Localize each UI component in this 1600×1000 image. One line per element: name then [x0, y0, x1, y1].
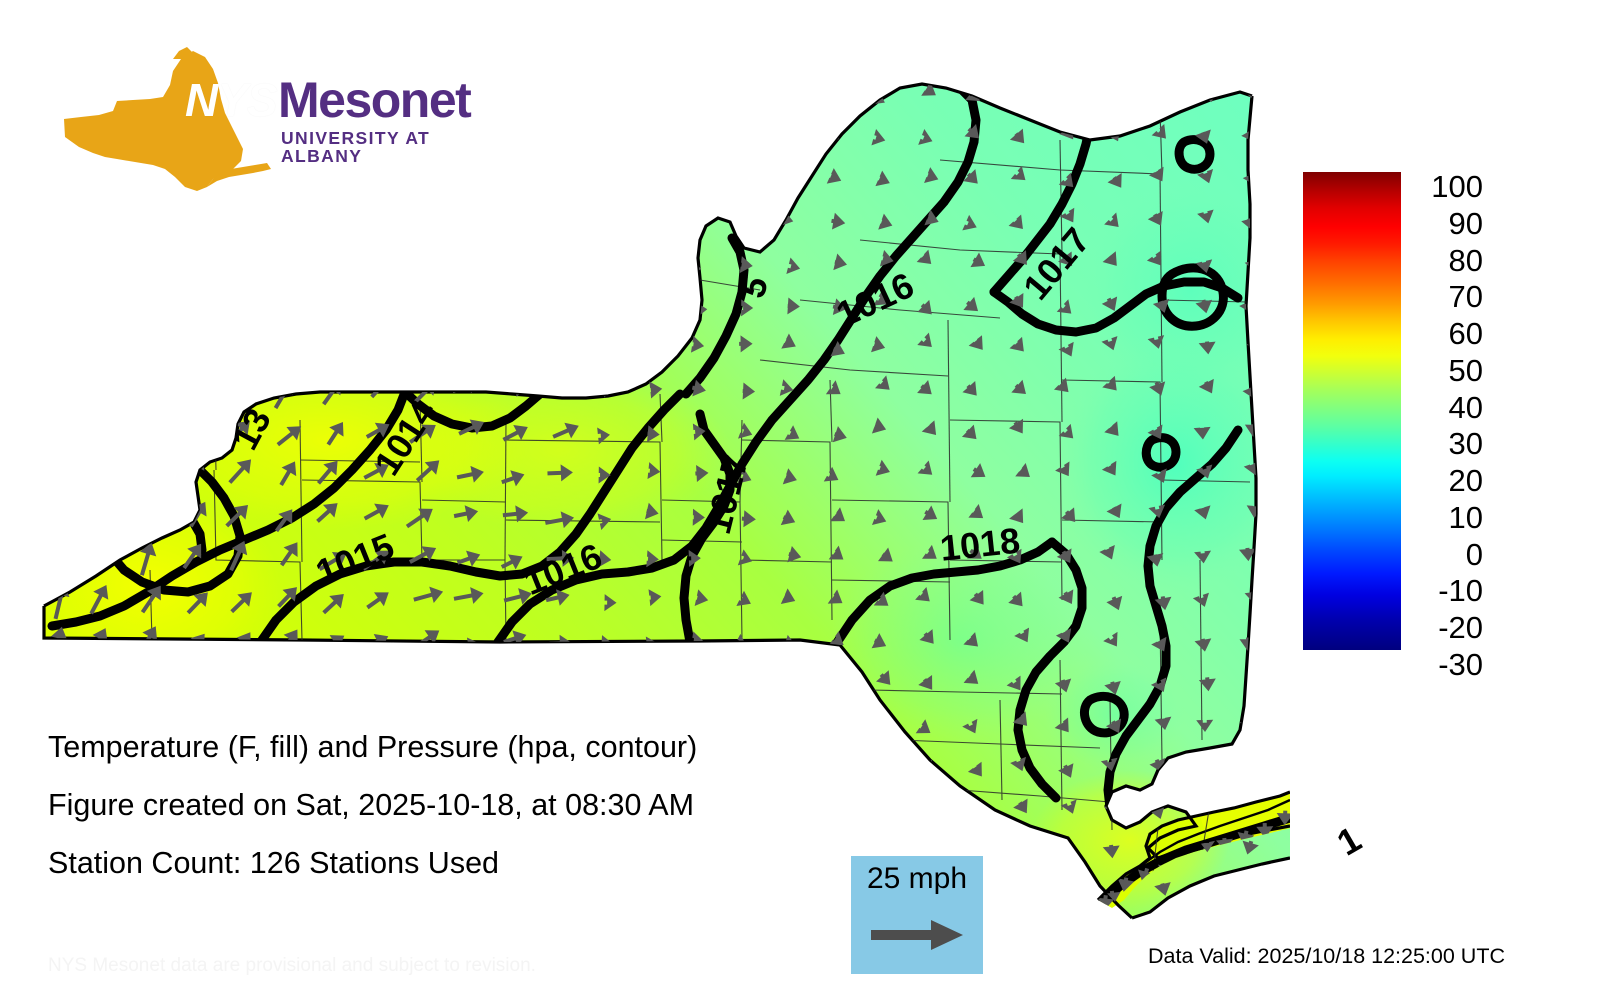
wind-arrow-icon	[601, 292, 618, 312]
colorbar-tick-neg30: -30	[1411, 648, 1483, 682]
wind-arrow-icon	[1015, 89, 1036, 111]
colorbar-tick-10: 10	[1411, 501, 1483, 535]
wind-arrow-icon	[542, 336, 574, 361]
colorbar-tick-neg20: -20	[1411, 611, 1483, 645]
wind-arrow-icon	[1152, 85, 1173, 103]
wind-arrow-icon	[96, 286, 118, 319]
wind-arrow-icon	[500, 675, 525, 695]
wind-arrow-icon	[1200, 763, 1218, 778]
wind-arrow-icon	[178, 667, 208, 701]
wind-arrow-icon	[642, 338, 656, 356]
wind-arrow-icon	[131, 494, 161, 533]
colorbar-tick-70: 70	[1411, 280, 1483, 314]
wind-arrow-icon	[505, 248, 535, 274]
wind-arrow-icon	[275, 326, 305, 361]
wind-arrow-icon	[182, 335, 213, 369]
logo-nys-text: NYS	[185, 77, 277, 123]
colorbar-tick-60: 60	[1411, 317, 1483, 351]
wind-scale-label: 25 mph	[851, 862, 983, 896]
wind-arrow-icon	[551, 673, 575, 690]
wind-arrow-icon	[133, 418, 160, 453]
colorbar-tick-labels: 1009080706050403020100-10-20-30	[1411, 154, 1501, 668]
wind-arrow-icon	[88, 453, 109, 488]
wind-arrow-icon	[452, 669, 482, 696]
wind-arrow-icon	[502, 924, 532, 944]
wind-arrow-icon	[1106, 931, 1126, 948]
wind-arrow-icon	[738, 928, 756, 948]
wind-arrow-icon	[1199, 928, 1218, 942]
wind-arrow-icon	[597, 209, 614, 229]
weather-map-page: 13101410151016510161017101710181 NYS Mes…	[0, 0, 1600, 1000]
wind-arrow-icon	[321, 284, 351, 319]
wind-arrow-icon	[497, 167, 530, 193]
wind-arrow-icon	[646, 671, 663, 691]
wind-arrow-icon	[549, 126, 579, 150]
caption-block: Temperature (F, fill) and Pressure (hpa,…	[48, 718, 868, 892]
wind-arrow-icon	[44, 454, 63, 490]
wind-arrow-icon	[45, 284, 64, 319]
wind-arrow-icon	[648, 932, 661, 950]
wind-arrow-icon	[226, 921, 260, 959]
wind-arrow-icon	[1246, 928, 1263, 942]
wind-arrow-icon	[502, 125, 532, 154]
wind-arrow-icon	[826, 677, 845, 698]
caption-created: Figure created on Sat, 2025-10-18, at 08…	[48, 776, 868, 834]
wind-arrow-icon	[786, 132, 800, 150]
wind-arrow-icon	[313, 922, 349, 952]
wind-scale-legend: 25 mph	[851, 856, 983, 974]
wind-arrow-icon	[736, 174, 752, 194]
wind-arrow-icon	[1008, 885, 1029, 903]
wind-arrow-icon	[131, 205, 159, 244]
wind-arrow-icon	[92, 376, 109, 410]
wind-arrow-icon	[42, 915, 72, 953]
wind-arrow-icon	[452, 295, 487, 325]
wind-arrow-icon	[1242, 887, 1260, 900]
wind-arrow-icon	[42, 500, 71, 540]
wind-arrow-icon	[1099, 88, 1120, 106]
wind-arrow-icon	[740, 677, 757, 697]
wind-arrow-icon	[178, 373, 209, 410]
wind-arrow-icon	[1195, 891, 1214, 906]
wind-arrow-icon	[877, 796, 897, 817]
logo-subtitle: UNIVERSITY AT ALBANY	[281, 129, 455, 165]
wind-arrow-icon	[269, 670, 300, 703]
wind-arrow-icon	[43, 413, 69, 453]
wind-arrow-icon	[1059, 88, 1079, 109]
colorbar-tick-20: 20	[1411, 464, 1483, 498]
wind-arrow-icon	[87, 328, 114, 363]
wind-arrow-icon	[179, 242, 208, 279]
wind-arrow-icon	[735, 209, 752, 228]
wind-arrow-icon	[89, 495, 109, 528]
wind-arrow-icon	[872, 711, 892, 732]
wind-arrow-icon	[89, 419, 110, 453]
wind-arrow-icon	[270, 293, 298, 327]
wind-arrow-icon	[226, 286, 259, 322]
wind-arrow-icon	[225, 666, 257, 702]
colorbar-tick-100: 100	[1411, 170, 1483, 204]
data-valid-timestamp: Data Valid: 2025/10/18 12:25:00 UTC	[1148, 944, 1505, 969]
wind-arrow-icon	[92, 663, 115, 700]
caption-fine-print: NYS Mesonet data are provisional and sub…	[48, 955, 536, 977]
wind-arrow-icon	[1010, 924, 1029, 940]
contour-label-1-9: 1	[1330, 818, 1368, 864]
wind-arrow-icon	[691, 921, 710, 942]
wind-arrow-icon	[603, 342, 618, 361]
wind-arrow-icon	[543, 209, 574, 235]
wind-arrow-icon	[131, 922, 167, 958]
wind-arrow-icon	[650, 211, 664, 229]
colorbar-tick-30: 30	[1411, 427, 1483, 461]
wind-arrow-icon	[46, 241, 71, 280]
wind-arrow-icon	[600, 672, 614, 690]
wind-arrow-icon	[410, 668, 444, 699]
wind-arrow-icon	[1057, 881, 1078, 900]
wind-arrow-icon	[404, 285, 437, 319]
wind-arrow-icon	[360, 292, 390, 324]
wind-arrow-icon	[964, 803, 985, 822]
caption-station-count: Station Count: 126 Stations Used	[48, 834, 868, 892]
wind-arrow-icon	[690, 676, 709, 697]
wind-arrow-icon	[46, 328, 64, 362]
wind-arrow-icon	[363, 925, 396, 953]
wind-arrow-icon	[133, 459, 161, 496]
wind-arrow-icon	[362, 203, 396, 235]
wind-arrow-icon	[601, 83, 621, 105]
wind-arrow-icon	[449, 250, 483, 276]
wind-arrow-icon	[450, 335, 482, 362]
wind-arrow-icon	[643, 252, 659, 271]
wind-arrow-icon	[184, 417, 212, 454]
contour-label-1018-8: 1018	[938, 520, 1022, 570]
wind-arrow-icon	[266, 921, 298, 951]
wind-arrow-icon	[499, 292, 528, 317]
wind-arrow-icon	[181, 286, 209, 322]
wind-arrow-icon	[877, 756, 898, 778]
colorbar-tick-80: 80	[1411, 244, 1483, 278]
nys-mesonet-logo: NYS Mesonet UNIVERSITY AT ALBANY	[55, 45, 405, 195]
wind-arrow-icon	[1242, 761, 1260, 775]
wind-arrow-icon	[271, 248, 302, 280]
wind-arrow-icon	[231, 327, 258, 362]
wind-arrow-icon	[650, 85, 663, 103]
wind-arrow-icon	[452, 923, 481, 947]
wind-arrow-icon	[543, 83, 574, 108]
wind-arrow-icon	[602, 253, 618, 273]
wind-arrow-icon	[226, 204, 257, 239]
wind-arrow-icon	[502, 203, 535, 233]
wind-arrow-icon	[922, 799, 943, 819]
wind-arrow-icon	[359, 330, 390, 361]
wind-arrow-icon	[1054, 922, 1076, 942]
wind-arrow-icon	[266, 206, 298, 240]
colorbar-tick-0: 0	[1411, 538, 1483, 572]
wind-arrow-icon	[779, 82, 795, 102]
wind-arrow-icon	[547, 289, 580, 315]
wind-arrow-icon	[183, 919, 214, 952]
wind-arrow-icon	[695, 126, 708, 144]
wind-arrow-icon	[129, 368, 160, 404]
wind-arrow-icon	[226, 368, 256, 403]
wind-arrow-icon	[49, 670, 68, 702]
wind-arrow-icon	[649, 296, 664, 314]
wind-arrow-icon	[134, 288, 156, 322]
wind-arrow-icon	[451, 205, 483, 236]
wind-arrow-icon	[97, 203, 115, 239]
wind-arrow-icon	[500, 340, 526, 361]
wind-arrow-icon	[48, 371, 68, 407]
wind-arrow-icon	[739, 90, 753, 108]
wind-arrow-icon	[501, 83, 532, 113]
wind-arrow-icon	[138, 250, 165, 286]
wind-arrow-icon	[695, 167, 709, 185]
wind-arrow-icon	[320, 249, 350, 283]
wind-arrow-icon	[827, 89, 842, 108]
caption-title: Temperature (F, fill) and Pressure (hpa,…	[48, 718, 868, 776]
wind-arrow-icon	[404, 167, 439, 197]
wind-arrow-icon	[228, 242, 261, 279]
wind-arrow-icon	[411, 920, 445, 944]
wind-arrow-icon	[546, 250, 575, 276]
wind-arrow-icon	[778, 673, 797, 694]
wind-arrow-icon	[454, 163, 483, 191]
colorbar-tick-neg10: -10	[1411, 574, 1483, 608]
wind-arrow-icon	[403, 203, 437, 234]
colorbar-tick-90: 90	[1411, 207, 1483, 241]
wind-arrow-icon	[645, 175, 658, 192]
wind-arrow-icon	[138, 332, 159, 368]
wind-arrow-icon	[781, 171, 793, 188]
wind-arrow-icon	[549, 924, 574, 943]
wind-arrow-icon	[91, 246, 110, 278]
wind-arrow-icon	[1009, 843, 1030, 862]
wind-arrow-icon	[318, 672, 351, 704]
wind-arrow-icon	[690, 216, 703, 233]
wind-arrow-icon	[46, 539, 67, 574]
colorbar-tick-40: 40	[1411, 391, 1483, 425]
wind-arrow-icon	[87, 919, 122, 958]
wind-arrow-icon	[869, 918, 967, 952]
wind-arrow-icon	[316, 330, 349, 361]
wind-arrow-icon	[403, 253, 438, 283]
wind-arrow-icon	[596, 129, 616, 150]
wind-arrow-icon	[362, 672, 392, 698]
wind-arrow-icon	[412, 331, 445, 363]
wind-arrow-icon	[825, 924, 843, 945]
wind-arrow-icon	[783, 922, 802, 943]
wind-arrow-icon	[314, 208, 346, 242]
wind-arrow-icon	[364, 249, 393, 279]
wind-arrow-icon	[178, 208, 205, 245]
wind-arrow-icon	[45, 208, 62, 239]
logo-mesonet-text: Mesonet	[278, 75, 470, 125]
wind-arrow-icon	[600, 929, 614, 947]
wind-arrow-icon	[546, 168, 574, 192]
temperature-colorbar: 1009080706050403020100-10-20-30	[1303, 172, 1503, 652]
wind-arrow-icon	[741, 124, 756, 143]
wind-arrow-icon	[600, 174, 617, 193]
wind-arrow-icon	[695, 83, 710, 102]
wind-arrow-icon	[1152, 931, 1169, 943]
colorbar-tick-50: 50	[1411, 354, 1483, 388]
wind-arrow-icon	[642, 129, 657, 148]
wind-arrow-icon	[134, 664, 166, 698]
colorbar-gradient	[1303, 172, 1401, 650]
